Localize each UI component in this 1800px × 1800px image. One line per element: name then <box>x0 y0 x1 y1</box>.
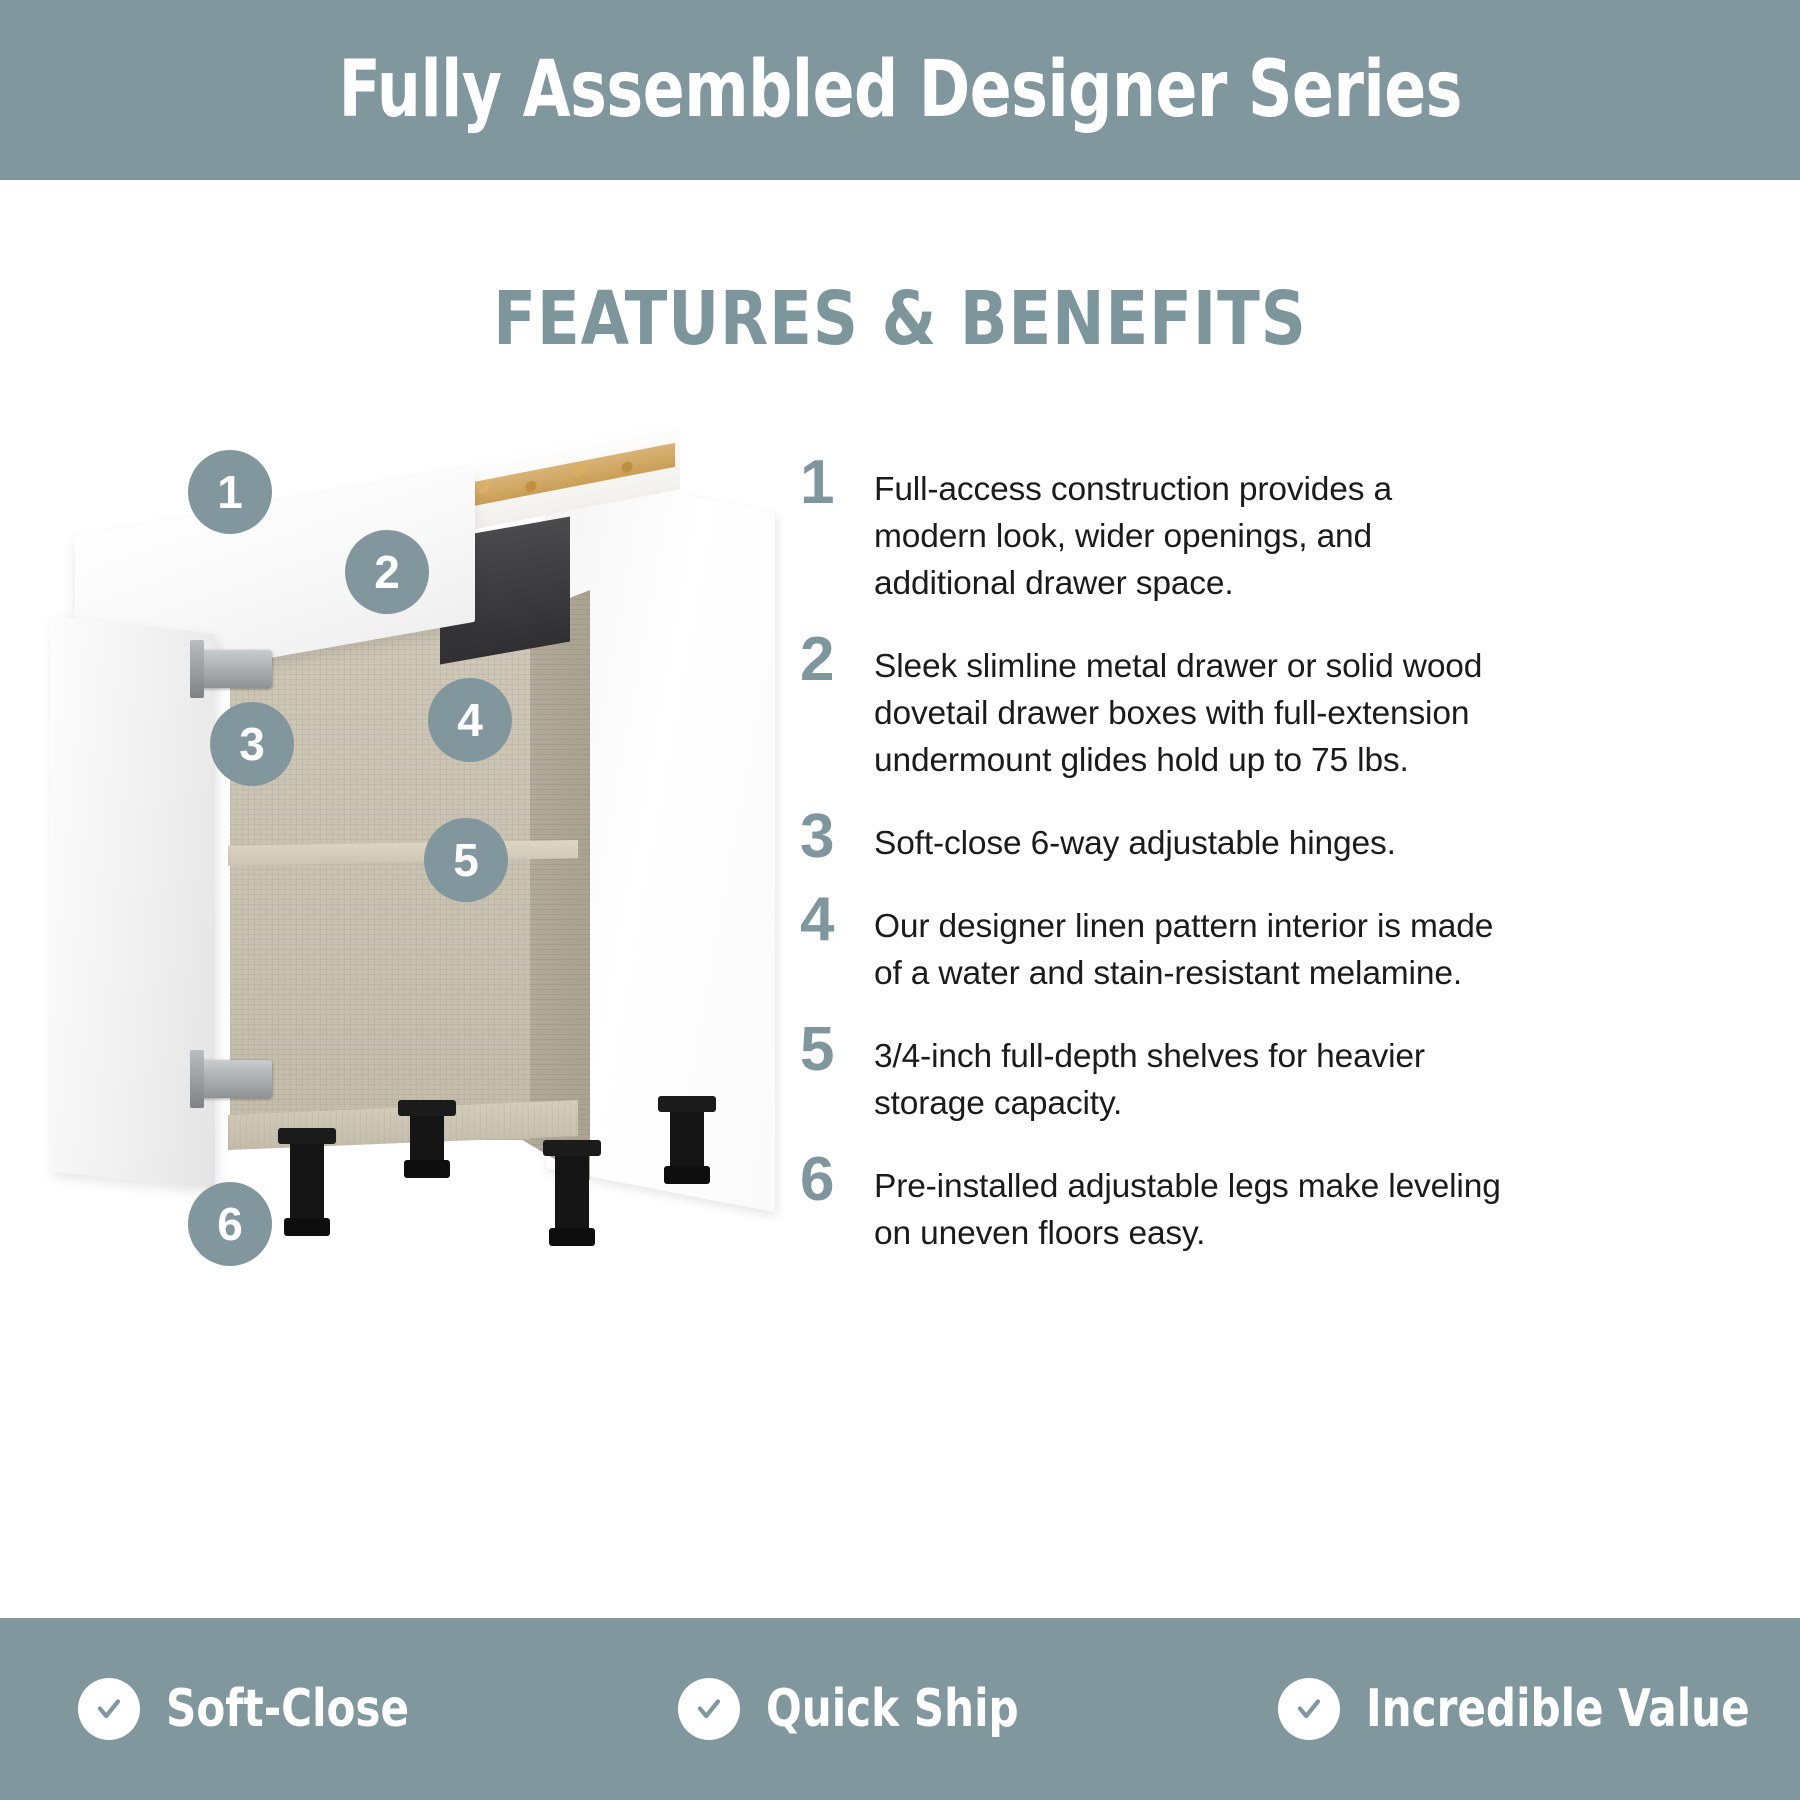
adjustable-leg <box>410 1112 444 1172</box>
callout-badge-1[interactable]: 1 <box>188 450 272 534</box>
feature-item-3: 3 Soft-close 6-way adjustable hinges. <box>800 806 1510 867</box>
feature-text-6: Pre-installed adjustable legs make level… <box>874 1149 1510 1257</box>
feature-list: 1 Full-access construction provides a mo… <box>800 452 1510 1279</box>
check-circle-icon <box>678 1678 740 1740</box>
footer-item-quick-ship: Quick Ship <box>600 1678 1200 1740</box>
adjustable-leg <box>670 1108 704 1178</box>
soft-close-hinge-icon <box>200 650 272 688</box>
footer-bar: Soft-Close Quick Ship Incredible Value <box>0 1618 1800 1800</box>
footer-label-soft-close: Soft-Close <box>166 1679 409 1739</box>
feature-number-6: 6 <box>800 1149 874 1209</box>
callout-badge-3[interactable]: 3 <box>210 702 294 786</box>
feature-item-4: 4 Our designer linen pattern interior is… <box>800 889 1510 997</box>
check-circle-icon <box>1278 1678 1340 1740</box>
feature-item-1: 1 Full-access construction provides a mo… <box>800 452 1510 607</box>
feature-text-3: Soft-close 6-way adjustable hinges. <box>874 806 1510 867</box>
feature-item-6: 6 Pre-installed adjustable legs make lev… <box>800 1149 1510 1257</box>
adjustable-leg <box>290 1140 324 1230</box>
adjustable-leg <box>555 1152 589 1240</box>
callout-badge-5[interactable]: 5 <box>424 818 508 902</box>
feature-item-5: 5 3/4-inch full-depth shelves for heavie… <box>800 1019 1510 1127</box>
header-bar: Fully Assembled Designer Series <box>0 0 1800 180</box>
callout-badge-4[interactable]: 4 <box>428 678 512 762</box>
feature-text-5: 3/4-inch full-depth shelves for heavier … <box>874 1019 1510 1127</box>
footer-item-soft-close: Soft-Close <box>0 1678 600 1740</box>
feature-number-1: 1 <box>800 452 874 512</box>
footer-label-incredible-value: Incredible Value <box>1366 1679 1750 1739</box>
feature-number-5: 5 <box>800 1019 874 1079</box>
feature-text-1: Full-access construction provides a mode… <box>874 452 1510 607</box>
check-circle-icon <box>78 1678 140 1740</box>
footer-label-quick-ship: Quick Ship <box>766 1679 1019 1739</box>
footer-item-incredible-value: Incredible Value <box>1200 1678 1800 1740</box>
feature-item-2: 2 Sleek slimline metal drawer or solid w… <box>800 629 1510 784</box>
callout-badge-6[interactable]: 6 <box>188 1182 272 1266</box>
feature-number-2: 2 <box>800 629 874 689</box>
feature-text-2: Sleek slimline metal drawer or solid woo… <box>874 629 1510 784</box>
soft-close-hinge-icon <box>200 1060 272 1098</box>
callout-badge-2[interactable]: 2 <box>345 530 429 614</box>
feature-number-3: 3 <box>800 806 874 866</box>
section-heading: FEATURES & BENEFITS <box>54 276 1746 362</box>
page-title: Fully Assembled Designer Series <box>338 45 1461 135</box>
feature-text-4: Our designer linen pattern interior is m… <box>874 889 1510 997</box>
feature-number-4: 4 <box>800 889 874 949</box>
